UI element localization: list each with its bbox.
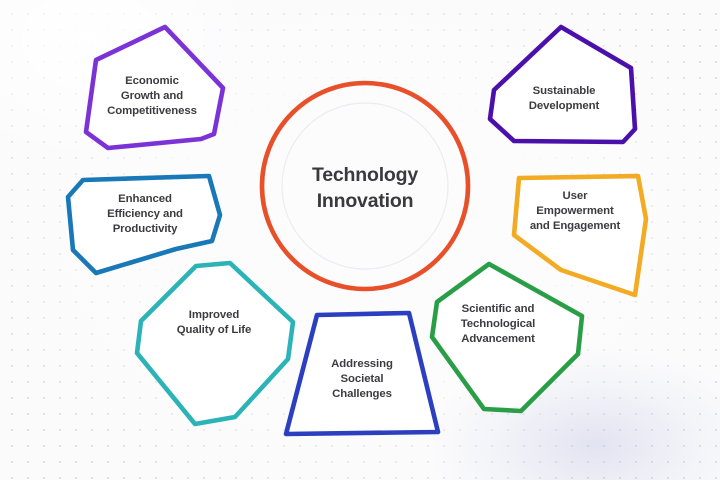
node-shape-improved-quality-of-life[interactable] xyxy=(137,263,293,424)
node-label-line: Development xyxy=(529,100,600,112)
node-label-line: Improved xyxy=(189,309,240,321)
node-label-line: Addressing xyxy=(331,358,393,370)
hub-technology-innovation-hub[interactable]: TechnologyInnovation xyxy=(262,83,468,289)
node-improved-quality-of-life[interactable]: ImprovedQuality of Life xyxy=(137,263,293,424)
node-shape-economic-growth[interactable] xyxy=(86,27,223,148)
hub-and-spoke-diagram: EconomicGrowth andCompetitivenessEnhance… xyxy=(0,0,720,480)
node-label-line: Efficiency and xyxy=(107,208,183,220)
node-addressing-societal-challenges[interactable]: AddressingSocietalChallenges xyxy=(286,313,438,434)
diagram-canvas: EconomicGrowth andCompetitivenessEnhance… xyxy=(0,0,720,480)
node-label-line: and Engagement xyxy=(530,220,621,232)
node-label-line: Competitiveness xyxy=(107,105,197,117)
node-label-line: Productivity xyxy=(113,223,178,235)
node-label-line: Empowerment xyxy=(536,205,614,217)
node-label-line: Quality of Life xyxy=(177,324,251,336)
node-label-line: Technological xyxy=(461,318,535,330)
node-label-line: Advancement xyxy=(461,333,535,345)
node-sustainable-development[interactable]: SustainableDevelopment xyxy=(490,27,635,142)
node-label-line: Societal xyxy=(341,373,384,385)
node-label-line: Growth and xyxy=(121,90,183,102)
node-label-line: Economic xyxy=(125,75,179,87)
node-label-enhanced-efficiency: EnhancedEfficiency andProductivity xyxy=(107,193,183,235)
node-label-line: Enhanced xyxy=(118,193,172,205)
node-label-line: Challenges xyxy=(332,388,392,400)
node-label-line: Sustainable xyxy=(533,85,596,97)
hub-layer: TechnologyInnovation xyxy=(262,83,468,289)
node-label-scientific-technological-advancement: Scientific andTechnologicalAdvancement xyxy=(461,303,535,345)
node-user-empowerment[interactable]: UserEmpowermentand Engagement xyxy=(514,176,646,295)
node-label-line: Scientific and xyxy=(462,303,535,315)
node-enhanced-efficiency[interactable]: EnhancedEfficiency andProductivity xyxy=(68,176,220,273)
hub-inner-circle xyxy=(282,103,448,269)
node-label-line: User xyxy=(563,190,589,202)
hub-label-line: Innovation xyxy=(317,190,414,212)
node-economic-growth[interactable]: EconomicGrowth andCompetitiveness xyxy=(86,27,223,148)
node-scientific-technological-advancement[interactable]: Scientific andTechnologicalAdvancement xyxy=(432,264,582,411)
hub-label-line: Technology xyxy=(312,164,418,186)
